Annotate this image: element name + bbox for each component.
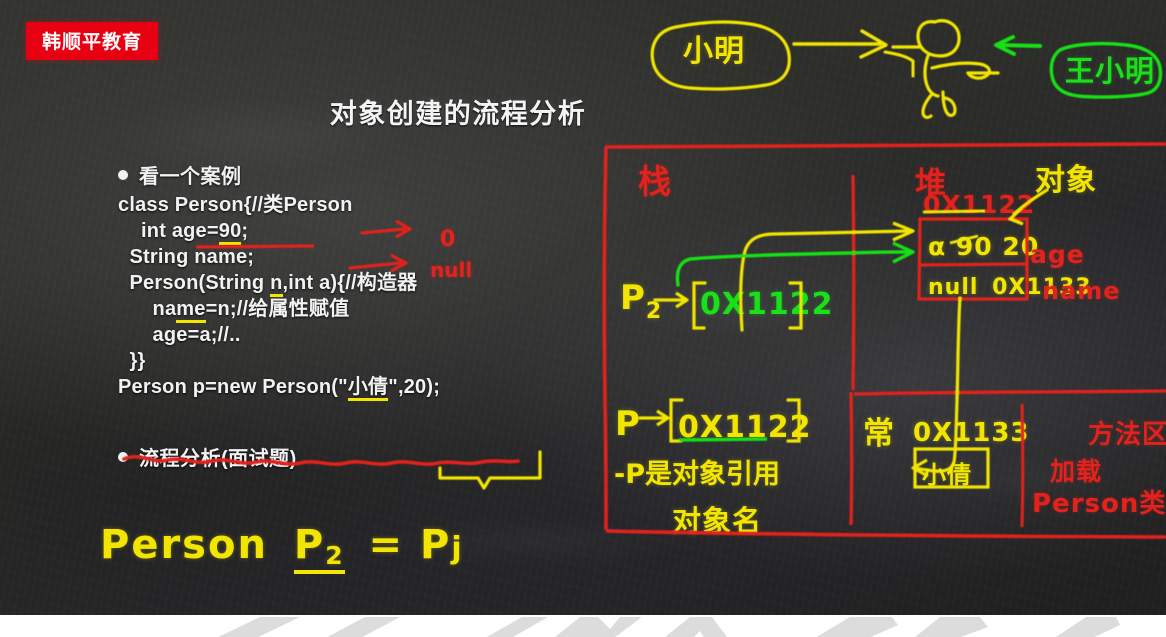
stack-row-p2-subscript: 2: [646, 299, 662, 324]
watermark-graphic: [150, 615, 1150, 637]
handwriting-person-assignment: Person P2 = Pj: [100, 522, 464, 574]
constant-pool-address: 0X1133: [913, 418, 1030, 448]
heap-field-age-struck: 90: [956, 232, 993, 261]
stack-title: 栈: [638, 155, 672, 203]
constant-pool-value: 小倩: [922, 455, 972, 490]
bullet-label-flow: 流程分析(面试题): [139, 442, 297, 471]
code-line-5-post: =n;//给属性赋值: [206, 298, 350, 320]
code-line-5-highlight: me: [176, 298, 205, 323]
code-line-4-pre: Person(String: [118, 272, 270, 294]
heap-field-age-prefix: α: [928, 232, 946, 261]
heap-field-name-null: null: [928, 275, 978, 300]
code-line-5-pre: na: [118, 298, 176, 320]
code-line-3-highlight: me: [218, 246, 247, 268]
bullet-item-case: 看一个案例: [118, 160, 588, 189]
heap-address: 0X1122: [923, 190, 1035, 219]
code-line-3-post: ;: [247, 246, 254, 268]
code-line-8: Person p=new Person("小倩",20);: [118, 374, 588, 400]
heap-field-age-name: age: [1030, 240, 1085, 269]
stack-row-p: P: [615, 404, 641, 444]
page-title: 对象创建的流程分析: [0, 92, 1166, 131]
code-line-2: int age=90;: [118, 218, 588, 244]
bottom-strip: [0, 615, 1166, 637]
sketch-green-label: 王小明: [1065, 48, 1155, 90]
code-line-4: Person(String n,int a){//构造器: [118, 270, 588, 296]
code-line-8-post: ",20);: [388, 376, 440, 398]
code-line-4-post: ,int a){//构造器: [283, 272, 418, 294]
sketch-oval-label: 小明: [683, 26, 745, 70]
stack-row-p2-var: P: [620, 278, 646, 318]
stack-row-p2-address: 0X1122: [700, 287, 834, 322]
annotation-age-default: 0: [440, 227, 455, 252]
code-line-8-pre: Person p=new Person(": [118, 376, 348, 398]
hw-p2-var: P: [294, 522, 325, 568]
code-line-7: }}: [118, 348, 588, 374]
page-title-text: 对象创建的流程分析: [330, 92, 587, 131]
heap-field-age-value: α 90 20: [928, 232, 1039, 261]
bullet-dot-icon: [118, 452, 128, 462]
bullet-label-case: 看一个案例: [139, 160, 242, 189]
stack-row-p2: P2: [620, 278, 662, 318]
heap-field-age-old: 90: [956, 232, 993, 261]
stack-note-objectname: 对象名: [672, 498, 762, 540]
hw-p2-subscript: 2: [325, 541, 344, 570]
hw-assign-right: = P: [369, 522, 452, 568]
stack-note-reference: -P是对象引用: [614, 452, 780, 491]
code-line-2-pre: int age=: [118, 220, 219, 242]
code-line-4-highlight: n: [270, 272, 282, 297]
hw-assign-tail: j: [451, 531, 463, 566]
code-line-6: age=a;//..: [118, 322, 588, 348]
code-line-3: String name;: [118, 244, 588, 270]
hw-p2-underlined: P2: [294, 522, 345, 574]
method-area-line2: Person类: [1032, 483, 1166, 520]
left-content-column: 看一个案例 class Person{//类Person int age=90;…: [118, 160, 588, 474]
slide-screenshot: 韩顺平教育 对象创建的流程分析 看一个案例 class Person{//类Pe…: [0, 0, 1166, 637]
code-line-1: class Person{//类Person: [118, 192, 588, 218]
constant-pool-title: 常: [863, 408, 895, 453]
hw-person-keyword: Person: [100, 522, 268, 568]
code-line-8-highlight: 小倩: [348, 376, 388, 401]
code-line-3-pre: String na: [118, 246, 218, 268]
heap-object-label: 对象: [1035, 155, 1097, 199]
method-area-title: 方法区: [1088, 414, 1166, 451]
code-line-2-post: ;: [241, 220, 248, 242]
code-line-2-highlight: 90: [219, 220, 242, 245]
code-line-5: name=n;//给属性赋值: [118, 296, 588, 322]
bullet-dot-icon: [118, 170, 128, 180]
bullet-item-flow: 流程分析(面试题): [118, 442, 588, 471]
brand-logo-badge: 韩顺平教育: [26, 22, 158, 60]
annotation-name-default: null: [430, 258, 472, 282]
heap-field-name-label: name: [1042, 277, 1121, 305]
stack-row-p-address: 0X1122: [678, 410, 812, 445]
